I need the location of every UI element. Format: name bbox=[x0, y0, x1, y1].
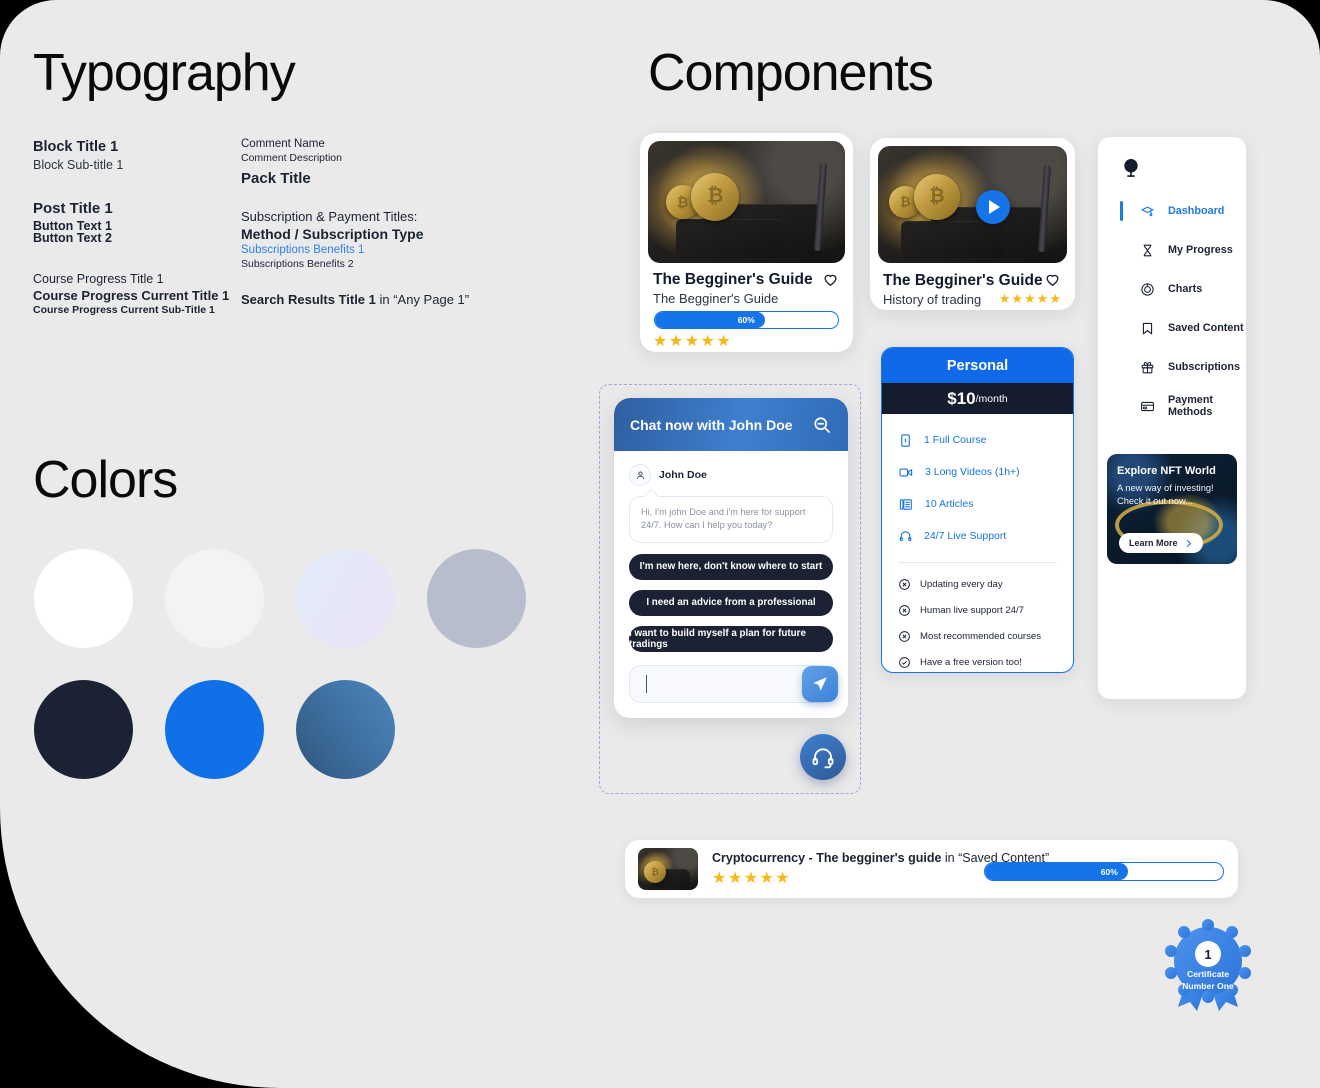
dashboard-icon bbox=[1140, 204, 1155, 219]
pricing-bullet-row: Updating every day bbox=[898, 571, 1057, 597]
video-thumbnail bbox=[878, 146, 1067, 263]
spec-method-subscription-type: Method / Subscription Type bbox=[241, 226, 424, 242]
saved-title-main: Cryptocurrency - The begginer's guide bbox=[712, 851, 941, 865]
saved-content-progress-bar[interactable]: 60% bbox=[984, 862, 1224, 881]
chat-card: Chat now with John Doe John Doe Hi, I'm … bbox=[614, 398, 848, 718]
spec-subscriptions-benefits-1: Subscriptions Benefits 1 bbox=[241, 244, 364, 256]
bitcoin-globe-icon: ₿ bbox=[1120, 157, 1142, 179]
certificate-number: 1 bbox=[1195, 941, 1221, 967]
saved-content-bar[interactable]: Cryptocurrency - The begginer's guide in… bbox=[625, 840, 1238, 898]
sidebar-label: My Progress bbox=[1168, 244, 1233, 256]
learn-more-button[interactable]: Learn More bbox=[1119, 533, 1203, 553]
send-icon[interactable] bbox=[802, 666, 838, 702]
spec-search-results-title: Search Results Title 1 in “Any Page 1” bbox=[241, 292, 469, 307]
chat-header-title: Chat now with John Doe bbox=[630, 417, 793, 433]
pricing-price-row: $10 /month bbox=[882, 383, 1073, 414]
color-swatch-midnight-navy bbox=[34, 680, 133, 779]
sidebar-label: Payment Methods bbox=[1168, 394, 1246, 418]
search-results-suffix: in “Any Page 1” bbox=[376, 292, 469, 307]
search-results-bold: Search Results Title 1 bbox=[241, 292, 376, 307]
heart-icon[interactable] bbox=[1044, 271, 1061, 288]
course-card-title: The Begginer's Guide bbox=[653, 271, 813, 289]
spec-block-subtitle: Block Sub-title 1 bbox=[33, 158, 123, 172]
color-swatch-lavender-mist bbox=[296, 549, 395, 648]
gift-icon bbox=[1140, 360, 1155, 375]
sidebar-label: Saved Content bbox=[1168, 322, 1244, 334]
certificate-line2: Number One bbox=[1160, 981, 1256, 993]
course-card-subtitle: The Begginer's Guide bbox=[653, 291, 778, 306]
pricing-card: Personal $10 /month 1 Full Course 3 Long… bbox=[881, 347, 1074, 673]
color-swatch-white bbox=[34, 549, 133, 648]
pricing-feature-row: 24/7 Live Support bbox=[898, 520, 1057, 552]
pricing-bullet-label: Most recommended courses bbox=[920, 631, 1041, 642]
section-title-components: Components bbox=[648, 43, 933, 103]
pricing-period: /month bbox=[976, 393, 1008, 405]
pricing-feature-row: 3 Long Videos (1h+) bbox=[898, 456, 1057, 488]
chat-option-2[interactable]: I need an advice from a professional bbox=[629, 590, 833, 616]
text-caret bbox=[646, 675, 647, 693]
x-circle-icon bbox=[898, 578, 911, 591]
design-system-canvas: Typography Components Colors Block Title… bbox=[0, 0, 1320, 1088]
saved-content-progress-label: 60% bbox=[1101, 867, 1118, 877]
spec-pack-title: Pack Title bbox=[241, 170, 311, 187]
chat-header: Chat now with John Doe bbox=[614, 398, 848, 451]
divider bbox=[898, 562, 1057, 563]
certificate-rosette-icon bbox=[1160, 919, 1256, 1015]
pricing-plan-name: Personal bbox=[882, 348, 1073, 383]
nft-promo-banner[interactable]: Explore NFT World A new way of investing… bbox=[1107, 454, 1237, 564]
spec-comment-description: Comment Description bbox=[241, 152, 342, 164]
sidebar-label: Charts bbox=[1168, 283, 1202, 295]
avatar-icon bbox=[629, 464, 651, 486]
video-card-title: The Begginer's Guide bbox=[883, 272, 1043, 290]
headset-icon bbox=[898, 529, 913, 544]
chat-widget-region: Chat now with John Doe John Doe Hi, I'm … bbox=[599, 384, 861, 794]
certificate-line1: Certificate bbox=[1160, 969, 1256, 981]
course-thumbnail bbox=[648, 141, 845, 263]
pricing-bullet-row: Most recommended courses bbox=[898, 623, 1057, 649]
course-progress-fill: 60% bbox=[655, 312, 765, 328]
charts-icon bbox=[1140, 282, 1155, 297]
course-card-rating: ★★★★★ bbox=[653, 334, 732, 350]
pricing-feature-label: 1 Full Course bbox=[924, 434, 986, 446]
article-icon bbox=[898, 497, 914, 512]
chat-option-1[interactable]: I'm new here, don't know where to start bbox=[629, 554, 833, 580]
bookmark-icon bbox=[1140, 321, 1155, 336]
pricing-feature-row: 10 Articles bbox=[898, 488, 1057, 520]
pricing-feature-row: 1 Full Course bbox=[898, 424, 1057, 456]
support-headset-icon[interactable] bbox=[800, 734, 846, 780]
spec-subscription-payment-titles: Subscription & Payment Titles: bbox=[241, 209, 417, 224]
pricing-bullet-row: Have a free version too! bbox=[898, 649, 1057, 673]
spec-course-progress-title: Course Progress Title 1 bbox=[33, 272, 164, 286]
check-circle-icon bbox=[898, 656, 911, 669]
pricing-feature-label: 3 Long Videos (1h+) bbox=[925, 466, 1020, 478]
credit-card-icon bbox=[1140, 399, 1155, 414]
pricing-bullet-label: Human live support 24/7 bbox=[920, 605, 1024, 616]
course-card[interactable]: The Begginer's Guide The Begginer's Guid… bbox=[640, 133, 853, 352]
zoom-out-icon[interactable] bbox=[812, 415, 832, 435]
color-swatch-cool-gray bbox=[427, 549, 526, 648]
section-title-colors: Colors bbox=[33, 450, 177, 510]
chat-agent-row: John Doe bbox=[629, 464, 833, 486]
spec-button-text-2: Button Text 2 bbox=[33, 231, 112, 245]
sidebar-item-my-progress[interactable]: My Progress bbox=[1140, 238, 1246, 262]
pricing-feature-label: 10 Articles bbox=[925, 498, 973, 510]
color-swatch-steel-blue bbox=[296, 680, 395, 779]
sidebar-label: Subscriptions bbox=[1168, 361, 1240, 373]
nft-promo-title: Explore NFT World bbox=[1117, 465, 1216, 477]
chat-option-3[interactable]: I want to build myself a plan for future… bbox=[629, 626, 833, 652]
section-title-typography: Typography bbox=[33, 43, 295, 103]
pricing-amount: $10 bbox=[947, 389, 975, 409]
chevron-right-icon bbox=[1184, 539, 1193, 548]
course-progress-label: 60% bbox=[738, 315, 755, 325]
certificate-caption: Certificate Number One bbox=[1160, 969, 1256, 992]
sidebar-label: Dashboard bbox=[1168, 205, 1224, 217]
pricing-feature-label: 24/7 Live Support bbox=[924, 530, 1006, 542]
spec-post-title: Post Title 1 bbox=[33, 200, 113, 217]
sidebar-item-saved-content[interactable]: Saved Content bbox=[1140, 316, 1246, 340]
nft-promo-line1: A new way of investing! bbox=[1117, 482, 1214, 495]
pricing-bullet-row: Human live support 24/7 bbox=[898, 597, 1057, 623]
nft-promo-line2: Check it out now... bbox=[1117, 495, 1193, 508]
video-icon bbox=[898, 465, 914, 480]
spec-subscriptions-benefits-2: Subscriptions Benefits 2 bbox=[241, 258, 354, 270]
learn-more-label: Learn More bbox=[1129, 538, 1178, 548]
chat-greeting-bubble: Hi, I'm john Doe and i'm here for suppor… bbox=[629, 496, 833, 543]
color-swatch-off-white bbox=[165, 549, 264, 648]
sidebar-item-dashboard[interactable]: Dashboard bbox=[1140, 199, 1246, 223]
svg-text:₿: ₿ bbox=[1128, 162, 1134, 171]
sidebar-item-subscriptions[interactable]: Subscriptions bbox=[1140, 355, 1246, 379]
hourglass-icon bbox=[1140, 243, 1155, 258]
sidebar-item-charts[interactable]: Charts bbox=[1140, 277, 1246, 301]
pricing-bullet-label: Have a free version too! bbox=[920, 657, 1022, 668]
video-card[interactable]: The Begginer's Guide History of trading … bbox=[870, 138, 1075, 310]
heart-icon[interactable] bbox=[822, 271, 839, 288]
book-icon bbox=[898, 433, 913, 448]
saved-content-progress-fill: 60% bbox=[985, 863, 1128, 880]
pricing-bullet-label: Updating every day bbox=[920, 579, 1003, 590]
video-card-subtitle: History of trading bbox=[883, 292, 981, 307]
sidebar-item-payment-methods[interactable]: Payment Methods bbox=[1140, 394, 1246, 418]
saved-content-thumbnail bbox=[638, 848, 698, 890]
sidebar: ₿ Dashboard My Progress bbox=[1098, 137, 1246, 699]
certificate-badge: 1 Certificate Number One bbox=[1160, 919, 1256, 1015]
active-indicator bbox=[1120, 201, 1123, 221]
x-circle-icon bbox=[898, 630, 911, 643]
spec-course-progress-current-title: Course Progress Current Title 1 bbox=[33, 288, 229, 303]
chat-agent-name: John Doe bbox=[659, 469, 707, 481]
video-card-rating: ★★★★★ bbox=[999, 292, 1062, 305]
spec-comment-name: Comment Name bbox=[241, 138, 325, 150]
course-progress-bar[interactable]: 60% bbox=[654, 311, 839, 329]
color-swatch-brand-blue bbox=[165, 680, 264, 779]
spec-course-progress-current-subtitle: Course Progress Current Sub-Title 1 bbox=[33, 304, 215, 316]
spec-block-title: Block Title 1 bbox=[33, 139, 118, 155]
x-circle-icon bbox=[898, 604, 911, 617]
